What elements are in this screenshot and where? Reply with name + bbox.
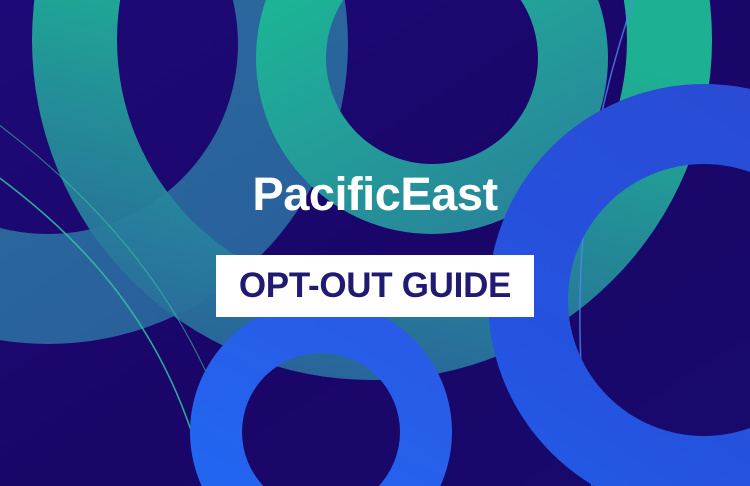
bottom-center-blue-ring xyxy=(0,0,750,486)
page-title: PacificEast xyxy=(0,166,750,222)
opt-out-guide-banner: OPT-OUT GUIDE xyxy=(216,255,534,317)
decorative-background xyxy=(0,0,750,486)
opt-out-guide-label: OPT-OUT GUIDE xyxy=(239,266,511,306)
promo-banner-canvas: PacificEast OPT-OUT GUIDE xyxy=(0,0,750,486)
